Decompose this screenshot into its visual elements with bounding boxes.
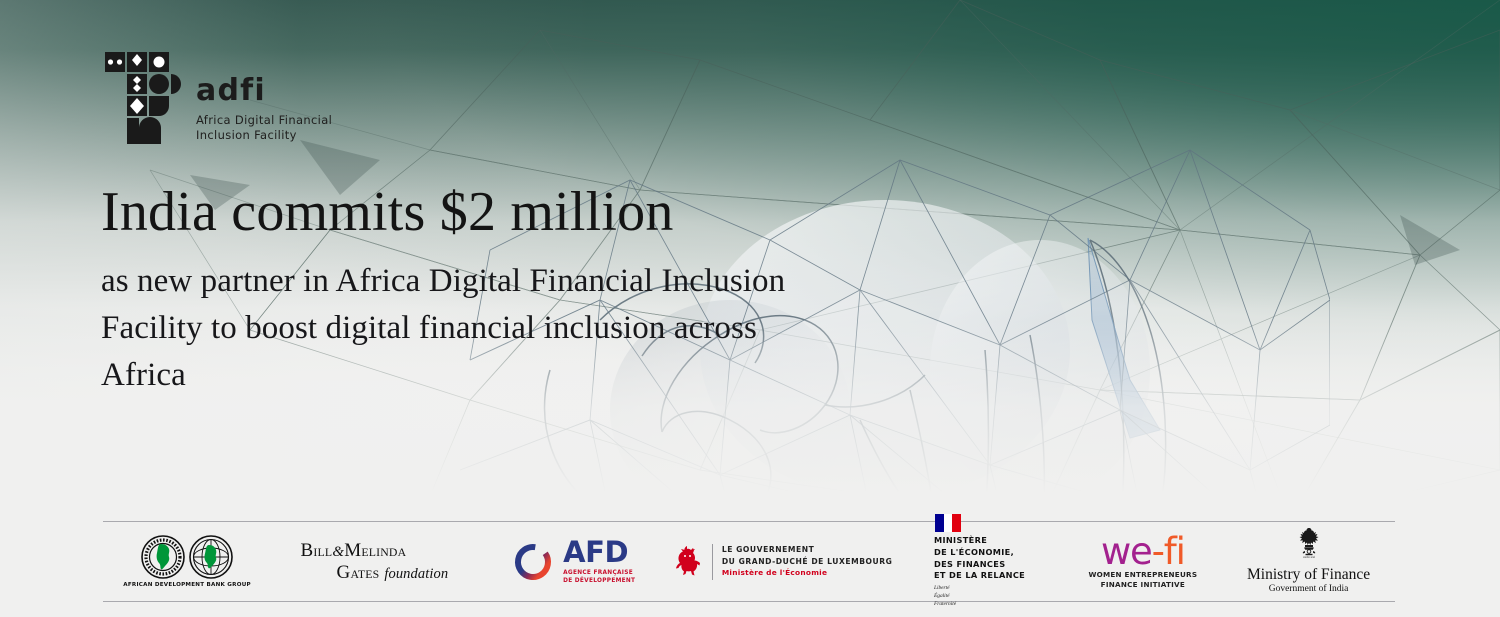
partner-logo-india-mof[interactable]: सत्यमेव जयते Ministry of Finance Governm… <box>1222 522 1395 601</box>
partner-logo-strip: AFRICAN DEVELOPMENT BANK GROUP BILL&MELI… <box>103 522 1395 601</box>
page-title: India commits $2 million <box>101 183 674 241</box>
partner-logo-wefi[interactable]: we-fi WOMEN ENTREPRENEURS FINANCE INITIA… <box>1064 522 1223 601</box>
afdb-seal-icon-alt <box>189 535 233 579</box>
luxembourg-line-1: LE GOUVERNEMENT <box>722 544 893 555</box>
gates-foundation-word: foundation <box>384 566 448 582</box>
luxembourg-divider <box>712 544 713 580</box>
adfi-logo[interactable]: adfi Africa Digital Financial Inclusion … <box>103 50 332 146</box>
wefi-wordmark: we-fi <box>1088 534 1197 569</box>
wefi-subtitle: WOMEN ENTREPRENEURS FINANCE INITIATIVE <box>1088 570 1197 589</box>
gates-gates-rest: ATES <box>350 568 379 581</box>
adfi-tagline: Africa Digital Financial Inclusion Facil… <box>196 113 332 143</box>
page-subtitle: as new partner in Africa Digital Financi… <box>101 258 801 399</box>
french-flag-icon <box>935 514 961 532</box>
ministere-motto: Liberté Égalité Fraternité <box>934 585 956 608</box>
afdb-seal-icon <box>141 535 185 579</box>
wefi-we: we <box>1101 530 1152 573</box>
afd-subtitle: AGENCE FRANÇAISE DE DÉVELOPPEMENT <box>563 569 635 586</box>
partner-logo-afd[interactable]: AFD AGENCE FRANÇAISE DE DÉVELOPPEMENT <box>478 522 670 601</box>
partner-logo-afdb[interactable]: AFRICAN DEVELOPMENT BANK GROUP <box>103 522 271 601</box>
ashoka-emblem-icon: सत्यमेव जयते <box>1294 527 1324 559</box>
luxembourg-lion-icon <box>673 544 703 580</box>
wefi-fi: -fi <box>1152 530 1185 573</box>
adfi-logo-mark <box>103 50 183 146</box>
partner-logo-luxembourg[interactable]: LE GOUVERNEMENT DU GRAND-DUCHÉ DE LUXEMB… <box>670 522 896 601</box>
adfi-announcement-banner: adfi Africa Digital Financial Inclusion … <box>0 0 1500 617</box>
gates-melinda-rest: ELINDA <box>361 546 406 559</box>
afd-ring-icon <box>512 541 554 583</box>
gates-ampersand: & <box>332 544 344 560</box>
gates-bill-rest: ILL <box>313 546 332 559</box>
gates-line-2: GATES foundation <box>301 562 449 583</box>
afdb-seals <box>123 535 251 579</box>
gates-gates-cap: G <box>337 562 351 583</box>
india-mof-line-1: Ministry of Finance <box>1247 566 1370 583</box>
adfi-wordmark: adfi <box>196 76 332 106</box>
afdb-caption: AFRICAN DEVELOPMENT BANK GROUP <box>123 582 251 588</box>
partner-logo-ministere-economie[interactable]: MINISTÈRE DE L'ÉCONOMIE, DES FINANCES ET… <box>896 522 1064 601</box>
partner-logo-gates-foundation[interactable]: BILL&MELINDA GATES foundation <box>271 522 478 601</box>
afd-acronym: AFD <box>563 538 635 567</box>
gates-melinda-cap: M <box>344 540 361 561</box>
luxembourg-line-2: DU GRAND-DUCHÉ DE LUXEMBOURG <box>722 556 893 567</box>
gates-line-1: BILL&MELINDA <box>301 540 449 561</box>
divider-bottom <box>103 601 1395 602</box>
svg-text:सत्यमेव जयते: सत्यमेव जयते <box>1303 555 1315 559</box>
gates-bill-cap: B <box>301 540 314 561</box>
adfi-logo-text: adfi Africa Digital Financial Inclusion … <box>196 50 332 143</box>
india-mof-line-2: Government of India <box>1247 584 1370 595</box>
luxembourg-line-3: Ministère de l'Économie <box>722 568 893 579</box>
ministere-title: MINISTÈRE DE L'ÉCONOMIE, DES FINANCES ET… <box>934 535 1025 582</box>
